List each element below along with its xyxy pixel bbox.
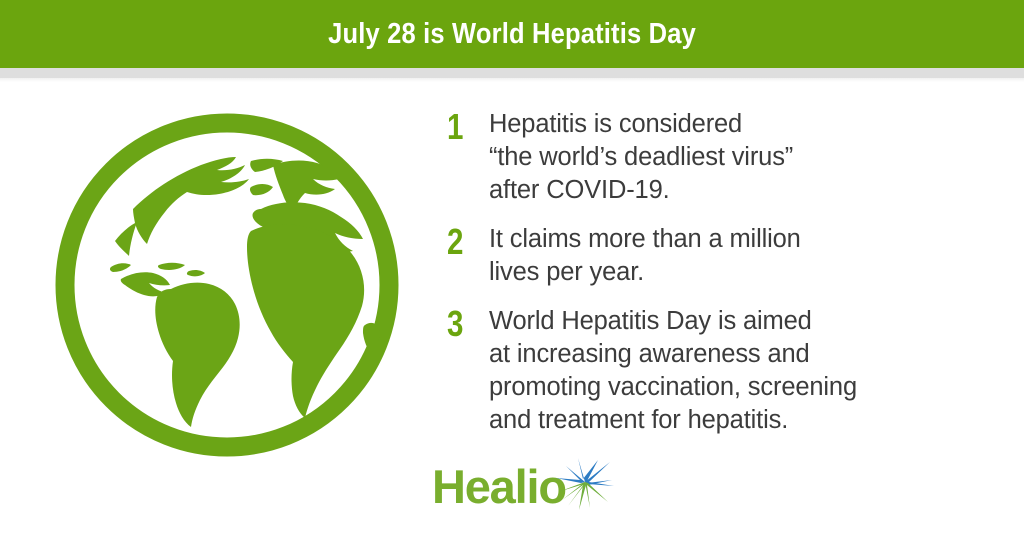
header-band: July 28 is World Hepatitis Day	[0, 0, 1024, 68]
fact-number: 2	[447, 223, 481, 261]
fact-number: 1	[447, 108, 481, 146]
fact-item: 3 World Hepatitis Day is aimed at increa…	[447, 305, 992, 437]
healio-star-icon	[554, 456, 616, 512]
fact-text: It claims more than a million lives per …	[489, 223, 992, 289]
facts-list: 1 Hepatitis is considered “the world’s d…	[447, 108, 992, 437]
header-divider-fade	[0, 78, 1024, 82]
page-title: July 28 is World Hepatitis Day	[328, 18, 696, 51]
fact-text: Hepatitis is considered “the world’s dea…	[489, 108, 992, 207]
healio-wordmark: Healio	[432, 462, 566, 512]
fact-number: 3	[447, 305, 481, 343]
fact-item: 2 It claims more than a million lives pe…	[447, 223, 992, 289]
globe-icon	[55, 113, 399, 457]
header-divider	[0, 68, 1024, 78]
fact-item: 1 Hepatitis is considered “the world’s d…	[447, 108, 992, 207]
fact-text: World Hepatitis Day is aimed at increasi…	[489, 305, 992, 437]
infographic-canvas: July 28 is World Hepatitis Day	[0, 0, 1024, 538]
healio-logo: Healio	[432, 460, 622, 516]
